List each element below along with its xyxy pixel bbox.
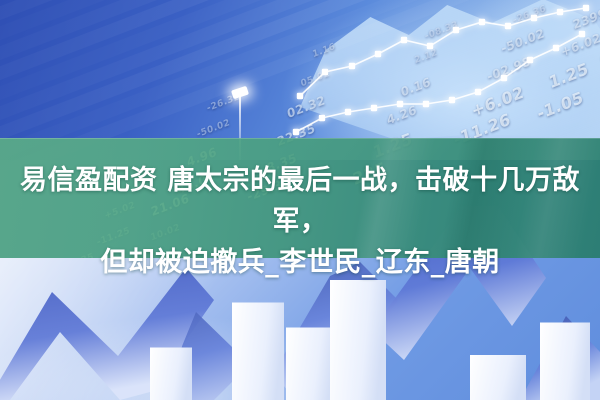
bar-column (150, 348, 192, 400)
bar-column (286, 328, 336, 400)
headline-line-1: 易信盈配资 唐太宗的最后一战，击破十几万敌军， (0, 160, 600, 242)
bar-column (470, 355, 526, 400)
headline-text: 易信盈配资 唐太宗的最后一战，击破十几万敌军， 但却被迫撤兵_李世民_辽东_唐朝 (0, 160, 600, 283)
bar-column (540, 323, 590, 400)
headline-line-2: 但却被迫撤兵_李世民_辽东_唐朝 (0, 242, 600, 283)
banner-image: -08.35-11.25+5.02-02.3621.0645.024.9610.… (0, 0, 600, 400)
bar-column (330, 280, 386, 400)
green-band-top-edge (0, 138, 600, 139)
bar-column (232, 303, 284, 400)
